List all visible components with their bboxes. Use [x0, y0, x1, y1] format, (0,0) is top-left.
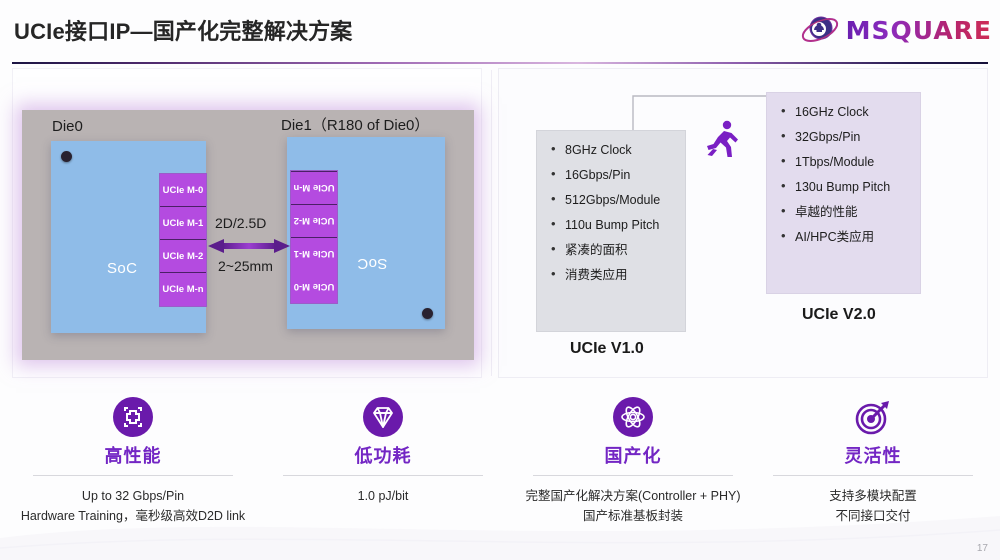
list-item: 32Gbps/Pin [779, 130, 920, 144]
slide-header: UCIe接口IP—国产化完整解决方案 MSQUARE [0, 0, 1000, 62]
divider [33, 475, 233, 476]
feature-body: 1.0 pJ/bit [258, 486, 508, 506]
die1-corner-marker [422, 308, 433, 319]
list-item: 消费类应用 [549, 268, 685, 282]
header-divider [12, 62, 988, 64]
list-item: AI/HPC类应用 [779, 230, 920, 244]
ucie-module: UCIe M-1 [160, 207, 206, 240]
target-icon [748, 396, 998, 438]
feature-line: 支持多模块配置 [748, 486, 998, 506]
feature-line: Up to 32 Gbps/Pin [8, 486, 258, 506]
ucie-v2-caption: UCIe V2.0 [802, 306, 876, 324]
atom-icon [508, 396, 758, 438]
ucie-module: UCIe M-n [291, 171, 337, 204]
ucie-v1-feature-box: 8GHz Clock 16Gbps/Pin 512Gbps/Module 110… [536, 130, 686, 332]
feature-body: 支持多模块配置 不同接口交付 [748, 486, 998, 526]
diamond-icon [258, 396, 508, 438]
feature-body: 完整国产化解决方案(Controller + PHY) 国产标准基板封装 [508, 486, 758, 526]
planet-mascot-icon [800, 11, 840, 49]
divider [283, 475, 483, 476]
divider [533, 475, 733, 476]
ucie-module: UCIe M-0 [160, 174, 206, 207]
link-distance-arrow-icon [208, 238, 290, 254]
feature-title: 低功耗 [258, 442, 508, 468]
die0-corner-marker [61, 151, 72, 162]
die1-soc-text: SoC [357, 255, 387, 272]
feature-line: 不同接口交付 [748, 506, 998, 526]
list-item: 紧凑的面积 [549, 243, 685, 257]
feature-title: 高性能 [8, 442, 258, 468]
list-item: 8GHz Clock [549, 143, 685, 157]
link-distance-label: 2~25mm [218, 258, 273, 274]
list-item: 16GHz Clock [779, 105, 920, 119]
list-item: 130u Bump Pitch [779, 180, 920, 194]
brand-name: MSQUARE [846, 16, 992, 45]
brand-logo: MSQUARE [800, 10, 992, 50]
ucie-v1-list: 8GHz Clock 16Gbps/Pin 512Gbps/Module 110… [537, 131, 685, 282]
feature-title: 灵活性 [748, 442, 998, 468]
feature-line: 完整国产化解决方案(Controller + PHY) [508, 486, 758, 506]
die0-ucie-module-column: UCIe M-0 UCIe M-1 UCIe M-2 UCIe M-n [159, 173, 207, 307]
ucie-module: UCIe M-2 [160, 240, 206, 273]
chip-icon [8, 396, 258, 438]
list-item: 512Gbps/Module [549, 193, 685, 207]
feature-line: 国产标准基板封装 [508, 506, 758, 526]
divider [773, 475, 973, 476]
feature-title: 国产化 [508, 442, 758, 468]
feature-line: 1.0 pJ/bit [258, 486, 508, 506]
feature-low-power: 低功耗 1.0 pJ/bit [258, 390, 508, 506]
list-item: 卓越的性能 [779, 205, 920, 219]
list-item: 1Tbps/Module [779, 155, 920, 169]
ucie-v2-list: 16GHz Clock 32Gbps/Pin 1Tbps/Module 130u… [767, 93, 920, 244]
list-item: 110u Bump Pitch [549, 218, 685, 232]
running-person-icon [700, 117, 744, 161]
panel-divider [491, 70, 492, 376]
feature-flexibility: 灵活性 支持多模块配置 不同接口交付 [748, 390, 998, 526]
page-title: UCIe接口IP—国产化完整解决方案 [14, 14, 353, 46]
feature-line: Hardware Training，毫秒级高效D2D link [8, 506, 258, 526]
page-number: 17 [977, 543, 988, 554]
die-to-die-diagram: Die0 Die1（R180 of Die0） SoC SoC UCIe M-0… [22, 110, 474, 360]
die1-label: Die1（R180 of Die0） [281, 114, 429, 135]
die0-soc-text: SoC [107, 260, 137, 277]
feature-high-performance: 高性能 Up to 32 Gbps/Pin Hardware Training，… [8, 390, 258, 526]
die1-ucie-module-column: UCIe M-n UCIe M-2 UCIe M-1 UCIe M-0 [290, 170, 338, 304]
ucie-v1-caption: UCIe V1.0 [570, 340, 644, 358]
die0-label: Die0 [52, 118, 83, 135]
ucie-module: UCIe M-2 [291, 204, 337, 237]
ucie-module: UCIe M-n [160, 273, 206, 306]
link-type-label: 2D/2.5D [215, 215, 266, 231]
ucie-v2-feature-box: 16GHz Clock 32Gbps/Pin 1Tbps/Module 130u… [766, 92, 921, 294]
ucie-module: UCIe M-0 [291, 270, 337, 303]
feature-highlights: 高性能 Up to 32 Gbps/Pin Hardware Training，… [0, 390, 1000, 550]
feature-localization: 国产化 完整国产化解决方案(Controller + PHY) 国产标准基板封装 [508, 390, 758, 526]
slide-root: UCIe接口IP—国产化完整解决方案 MSQUARE [0, 0, 1000, 560]
feature-body: Up to 32 Gbps/Pin Hardware Training，毫秒级高… [8, 486, 258, 526]
list-item: 16Gbps/Pin [549, 168, 685, 182]
ucie-module: UCIe M-1 [291, 237, 337, 270]
